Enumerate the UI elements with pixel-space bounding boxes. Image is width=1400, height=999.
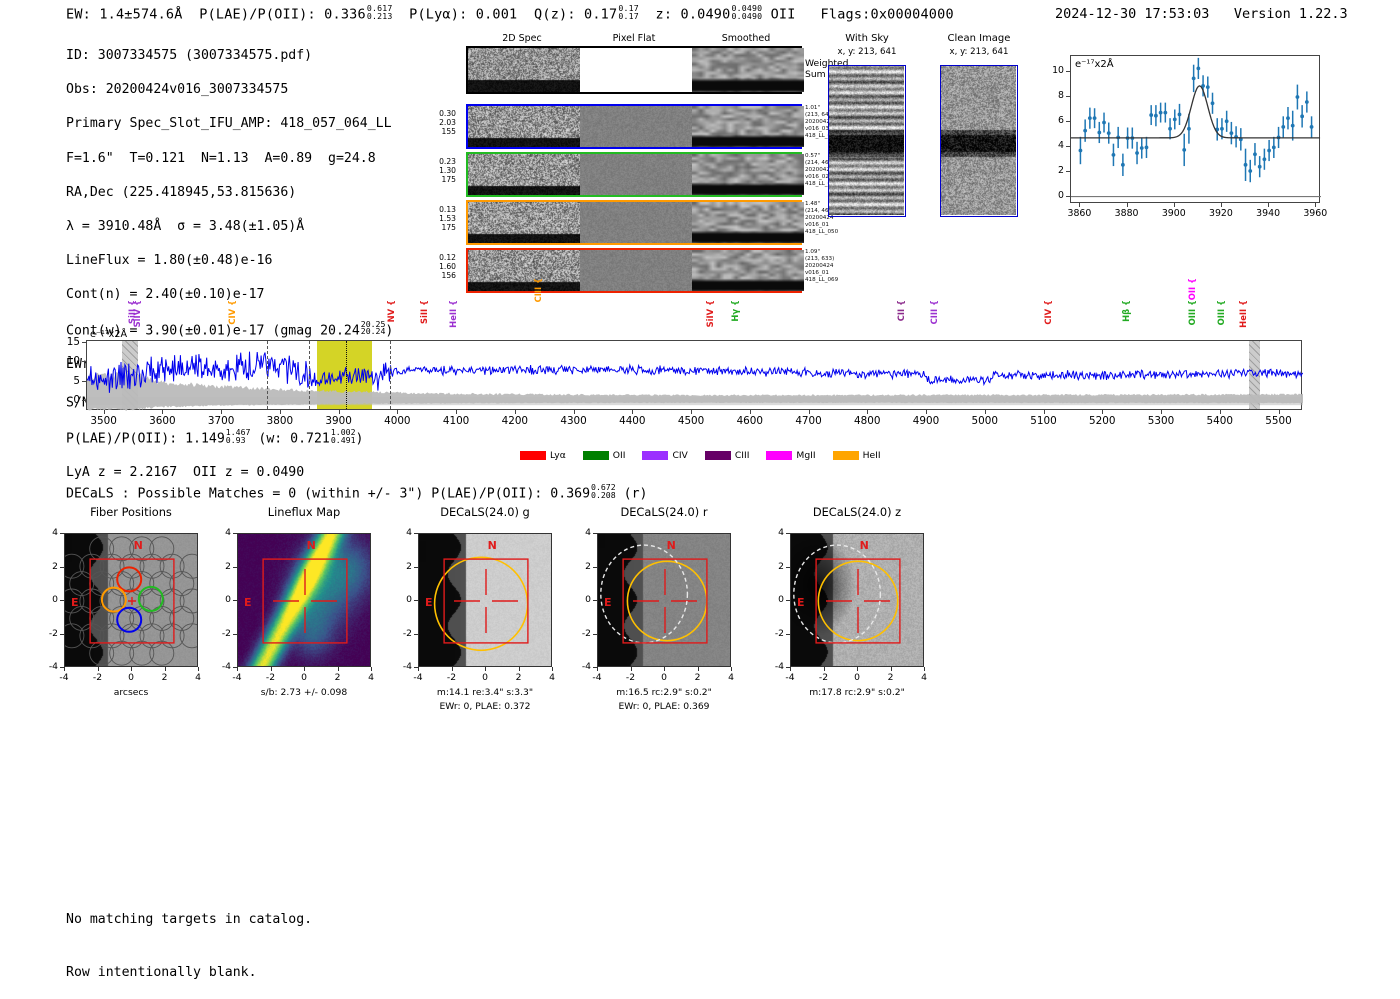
panel-ytick-label: -2 [211,628,231,639]
panel-ytick [593,634,597,635]
panel-xtick-label: 2 [877,672,905,683]
panel-image-1[interactable] [64,533,198,667]
emission-line-label: SiIV { [705,300,715,327]
panel-ytick-label: 4 [392,527,412,538]
panel-xtick-label: -4 [583,672,611,683]
cutout-coords-1: x, y: 213, 641 [810,47,924,57]
panel-ytick [60,600,64,601]
panel-xtick [64,667,65,671]
fiber-strip-3-sub-3 [692,202,804,243]
fiber-strip-3 [466,200,802,245]
panel-ytick [786,600,790,601]
panel-ytick [60,567,64,568]
legend-swatch [583,451,609,460]
panel-caption-2: s/b: 2.73 +/- 0.098 [203,687,405,698]
spectrum-xtick [809,410,810,414]
plae-value: 0.336 [324,6,366,22]
panel-image-2[interactable] [237,533,371,667]
fiber-strip-2 [466,152,802,197]
spectrum-xtick [926,410,927,414]
wavelength-marker-3 [390,341,391,409]
decals-plae-bounds: 0.6720.208 [591,484,616,500]
panel-ytick-label: 2 [38,561,58,572]
panel-xtick-label: -4 [223,672,251,683]
info-seeing: F=1.6" T=0.121 N=1.13 A=0.89 g=24.8 [66,150,393,167]
weighted-sum-sub-3 [692,48,804,92]
line-fit-ytick-label: 10 [1042,65,1064,76]
spectrum-xtick-label: 3800 [256,415,304,427]
emission-line-label: Hγ { [730,300,740,322]
line-fit-xtick [1079,203,1080,207]
compass-north-2: N [307,539,316,552]
emission-line-label: HeII { [1238,300,1248,328]
emission-line-label: SiIV { [132,300,142,327]
panel-ytick [786,533,790,534]
header-timestamp-version: 2024-12-30 17:53:03 Version 1.22.3 [1055,6,1348,22]
spectrum-xtick-label: 3700 [197,415,245,427]
panel-xtick [924,667,925,671]
plae-bounds: 0.6170.213 [367,5,393,21]
panel-caption2-3: EWr: 0, PLAE: 0.372 [384,701,586,712]
legend-label: CIII [735,450,750,461]
panel-xtick-label: -4 [50,672,78,683]
cutout-image-2 [940,65,1018,217]
wavelength-marker-1 [267,341,268,409]
fiber-strip-1-metrics: 0.302.03155 [420,109,456,136]
panel-xtick-label: 0 [471,672,499,683]
emission-line-label: CIII { [929,300,939,324]
full-spectrum-plot-area: e⁻¹⁷x2Å [86,340,1302,410]
legend-label: MgII [796,450,815,461]
panel-caption-1: arcsecs [30,687,232,698]
panel-ytick [60,634,64,635]
weighted-sum-sub-1 [468,48,580,92]
panel-overlay-1 [65,534,198,667]
legend-label: OII [613,450,626,461]
panel-overlay-2 [238,534,371,667]
panel-xtick [418,667,419,671]
panel-ytick-label: 2 [392,561,412,572]
panel-title-3: DECaLS(24.0) g [388,505,582,519]
fiber-strip-1-sub-2 [580,106,692,147]
line-fit-ytick [1066,71,1070,72]
panel-ytick-label: -2 [571,628,591,639]
footer-note: No matching targets in catalog. Row inte… [66,876,312,999]
panel-xtick-label: 0 [650,672,678,683]
z-label: z: [656,6,673,22]
spectrum-xtick-label: 4100 [432,415,480,427]
panel-ytick-label: 0 [764,594,784,605]
fiber-strip-2-metrics: 0.231.30175 [420,157,456,184]
plya-value: 0.001 [476,6,518,22]
compass-east-2: E [244,596,252,609]
fiber-strip-1 [466,104,802,149]
legend-swatch [642,451,668,460]
panel-xtick [452,667,453,671]
line-fit-xtick-label: 3940 [1248,208,1288,219]
plae-label: P(LAE)/P(OII): [199,6,316,22]
spectrum-xtick-label: 5000 [961,415,1009,427]
panel-xtick [338,667,339,671]
panel-ytick [414,567,418,568]
panel-xtick-label: -2 [257,672,285,683]
emission-line-label: Hβ { [1121,300,1131,322]
panel-ytick-label: -2 [392,628,412,639]
spectrum-xtick [985,410,986,414]
legend-item-civ: CIV [642,450,687,461]
panel-ytick-label: 4 [571,527,591,538]
panel-caption2-4: EWr: 0, PLAE: 0.369 [563,701,765,712]
spectrum-xtick-label: 5200 [1078,415,1126,427]
spectrum-xtick-label: 5300 [1137,415,1185,427]
legend-label: Lyα [550,450,566,461]
panel-ytick-label: 4 [211,527,231,538]
panel-xtick [552,667,553,671]
compass-north-1: N [134,539,143,552]
legend-swatch [520,451,546,460]
spectrum-xtick [750,410,751,414]
panel-ytick-label: -4 [571,661,591,672]
panel-ytick [60,667,64,668]
info-radec: RA,Dec (225.418945,53.815636) [66,184,393,201]
spectrum-xtick-label: 4500 [667,415,715,427]
fiber-metric: 0.12 [420,253,456,262]
spectrum-xtick [339,410,340,414]
panel-xtick-label: -2 [438,672,466,683]
panel-xtick [698,667,699,671]
panel-xtick-label: 2 [324,672,352,683]
fiber-metric: 2.03 [420,118,456,127]
spectrum-xtick [162,410,163,414]
panel-ytick-label: 0 [211,594,231,605]
spectrum-xtick-label: 4300 [550,415,598,427]
panel-ytick-label: 2 [211,561,231,572]
line-fit-xtick-label: 3920 [1201,208,1241,219]
fiber-cutout-images: With Skyx, y: 213, 641Clean Imagex, y: 2… [828,33,1018,253]
panel-xtick [237,667,238,671]
panel-ytick-label: 2 [571,561,591,572]
line-fit-xtick-label: 3880 [1107,208,1147,219]
panel-title-4: DECaLS(24.0) r [567,505,761,519]
panel-xtick-label: 2 [684,672,712,683]
spectrum-xtick [574,410,575,414]
line-fit-ytick-label: 4 [1042,140,1064,151]
footer-line-1: No matching targets in catalog. [66,911,312,929]
panel-xtick-label: 2 [505,672,533,683]
spectrum-xtick [1161,410,1162,414]
emission-line-label: CIV { [227,300,237,325]
panel-overlay-3 [419,534,552,667]
panel-title-1: Fiber Positions [34,505,228,519]
panel-ytick [414,667,418,668]
info-obs: Obs: 20200424v016_3007334575 [66,81,393,98]
legend-label: HeII [863,450,881,461]
fiber-strip-3-sub-1 [468,202,580,243]
panel-title-5: DECaLS(24.0) z [760,505,954,519]
line-fit-chart: e⁻¹⁷x2Å3860388039003920394039600246810 [1030,45,1320,240]
spectrum-xtick [1044,410,1045,414]
panel-ytick [593,567,597,568]
fiber-metric: 155 [420,127,456,136]
compass-north-5: N [860,539,869,552]
panel-xtick-label: 0 [117,672,145,683]
panel-xtick [519,667,520,671]
panel-caption-3: m:14.1 re:3.4" s:3.3" [384,687,586,698]
panel-ytick [233,667,237,668]
panel-ytick-label: -4 [211,661,231,672]
panel-ytick [233,634,237,635]
spectrum-ytick-label: 15 [56,336,80,348]
spectrum-xtick-label: 4000 [373,415,421,427]
legend-swatch [833,451,859,460]
spec2d-column-title-2: Pixel Flat [572,33,696,44]
legend-item-lyα: Lyα [520,450,566,461]
decals-band: (r) [624,486,648,501]
decals-match-text: DECaLS : Possible Matches = 0 (within +/… [66,486,590,501]
qz-value: 0.17 [584,6,617,22]
panel-image-5[interactable] [790,533,924,667]
z-value: 0.0490 [681,6,731,22]
fiber-metric: 175 [420,175,456,184]
panel-xtick-label: 4 [184,672,212,683]
line-fit-xtick [1174,203,1175,207]
panel-ytick [786,667,790,668]
weighted-sum-sub-2 [580,48,692,92]
line-fit-ytick-label: 8 [1042,90,1064,101]
fiber-metric: 1.53 [420,214,456,223]
emission-line-label: OIII { [1216,300,1226,325]
legend-item-oii: OII [583,450,626,461]
emission-line-label: HeII { [448,300,458,328]
panel-xtick [857,667,858,671]
panel-xtick-label: 0 [290,672,318,683]
spectrum-xtick [397,410,398,414]
legend-label: CIV [672,450,687,461]
fiber-strip-2-sub-1 [468,154,580,195]
panel-ytick [414,533,418,534]
panel-xtick-label: 4 [538,672,566,683]
panel-xtick-label: 0 [843,672,871,683]
panel-ytick [60,533,64,534]
legend-swatch [705,451,731,460]
compass-north-3: N [488,539,497,552]
panel-xtick-label: 4 [357,672,385,683]
line-fit-plot-area: e⁻¹⁷x2Å [1070,55,1320,203]
panel-ytick-label: 2 [764,561,784,572]
line-fit-ytick [1066,96,1070,97]
spectrum-xtick [515,410,516,414]
spectrum-xtick [867,410,868,414]
panel-xtick [304,667,305,671]
line-fit-xtick [1127,203,1128,207]
spectrum-xtick [691,410,692,414]
emission-line-label: CIV { [1043,300,1053,325]
line-fit-data-layer [1071,56,1321,204]
full-spectrum-chart: e⁻¹⁷x2Å350036003700380039004000410042004… [0,270,1400,450]
panel-ytick [593,533,597,534]
fiber-strip-3-sub-2 [580,202,692,243]
fiber-strip-2-sub-3 [692,154,804,195]
panel-image-4[interactable] [597,533,731,667]
panel-caption-4: m:16.5 rc:2.9" s:0.2" [563,687,765,698]
legend-item-mgii: MgII [766,450,815,461]
spectrum-ytick-label: 10 [56,355,80,367]
emission-line-label: CII { [896,300,906,321]
panel-xtick [165,667,166,671]
z-bounds: 0.04900.0490 [731,5,762,21]
panel-xtick-label: -2 [84,672,112,683]
spectrum-xtick [1279,410,1280,414]
panel-xtick-label: 2 [151,672,179,683]
fiber-metric: 175 [420,223,456,232]
line-fit-ytick [1066,121,1070,122]
fiber-metric: 0.23 [420,157,456,166]
panel-ytick-label: -2 [38,628,58,639]
full-spectrum-flux-units: e⁻¹⁷x2Å [90,329,127,340]
panel-ytick [593,600,597,601]
panel-overlay-5 [791,534,924,667]
line-fit-ytick-label: 6 [1042,115,1064,126]
fiber-strip-3-metrics: 0.131.53175 [420,205,456,232]
panel-ytick [786,634,790,635]
legend-item-ciii: CIII [705,450,750,461]
spectrum-xtick-label: 4400 [608,415,656,427]
spectrum-ytick [82,400,86,401]
cutout-title-1: With Sky [810,33,924,44]
fiber-identifier: (213, 633) [805,256,865,263]
line-fit-xtick [1221,203,1222,207]
line-fit-ytick [1066,171,1070,172]
panel-ytick-label: 4 [38,527,58,538]
spectrum-ytick [82,342,86,343]
panel-xtick-label: 4 [910,672,938,683]
panel-xtick [271,667,272,671]
panel-title-2: Lineflux Map [207,505,401,519]
fiber-strip-2-sub-2 [580,154,692,195]
spectrum-xtick [280,410,281,414]
ew-label: EW: [66,6,91,22]
panel-ytick-label: -2 [764,628,784,639]
emission-line-label: OIII { [1187,300,1197,325]
fiber-identifier: 20200424 [805,263,865,270]
panel-ytick-label: 0 [392,594,412,605]
compass-east-3: E [425,596,433,609]
panel-ytick [786,567,790,568]
spectrum-xtick-label: 5500 [1255,415,1303,427]
panel-ytick [233,533,237,534]
spectrum-xtick [1220,410,1221,414]
emission-line-label: SiII { [419,300,429,324]
spectrum-xtick-label: 4700 [785,415,833,427]
line-fit-ytick-label: 2 [1042,165,1064,176]
info-id: ID: 3007334575 (3007334575.pdf) [66,47,393,64]
panel-xtick-label: -2 [810,672,838,683]
spectrum-xtick-label: 5100 [1020,415,1068,427]
spec2d-column-title-3: Smoothed [684,33,808,44]
panel-xtick [597,667,598,671]
panel-ytick [414,634,418,635]
panel-ytick-label: -4 [392,661,412,672]
cutout-image-1 [828,65,906,217]
panel-xtick [485,667,486,671]
info-primary-spec: Primary Spec_Slot_IFU_AMP: 418_057_064_L… [66,115,393,132]
panel-ytick-label: 4 [764,527,784,538]
line-fit-ytick [1066,196,1070,197]
panel-xtick [631,667,632,671]
panel-xtick [790,667,791,671]
panel-caption-5: m:17.8 rc:2.9" s:0.2" [756,687,958,698]
fiber-metric: 1.30 [420,166,456,175]
spectrum-xtick-label: 4200 [491,415,539,427]
panel-ytick [233,567,237,568]
line-fit-xtick [1315,203,1316,207]
compass-east-5: E [797,596,805,609]
spectrum-xtick-label: 3500 [80,415,128,427]
compass-north-4: N [667,539,676,552]
fiber-strip-1-sub-1 [468,106,580,147]
panel-ytick [233,600,237,601]
panel-xtick [198,667,199,671]
two-d-spectra-panel: 2D SpecPixel FlatSmoothedWeightedSum0.30… [420,33,820,248]
panel-xtick-label: 4 [717,672,745,683]
spectrum-xtick-label: 4900 [902,415,950,427]
spectrum-xtick-label: 4600 [726,415,774,427]
line-fit-xtick-label: 3860 [1059,208,1099,219]
spectrum-xtick [632,410,633,414]
spectrum-ytick-label: 0 [56,394,80,406]
flags-value: Flags:0x00004000 [821,6,954,22]
footer-line-2: Row intentionally blank. [66,964,312,982]
spectrum-xtick-label: 5400 [1196,415,1244,427]
full-spectrum-data-layer [87,341,1303,411]
panel-xtick-label: -4 [776,672,804,683]
compass-east-1: E [71,596,79,609]
panel-ytick [414,600,418,601]
info-lineflux: LineFlux = 1.80(±0.48)e-16 [66,252,393,269]
spectrum-xtick [221,410,222,414]
panel-ytick-label: -4 [764,661,784,672]
detected-line-marker [346,341,347,409]
line-fit-ytick [1066,146,1070,147]
panel-xtick [891,667,892,671]
wavelength-marker-2 [309,341,310,409]
spectrum-ytick [82,381,86,382]
panel-overlay-4 [598,534,731,667]
panel-xtick [731,667,732,671]
panel-image-3[interactable] [418,533,552,667]
spectrum-xtick-label: 4800 [843,415,891,427]
imaging-panel-row: Fiber PositionsNE-4-2024420-2-4arcsecsLi… [0,505,1400,725]
panel-xtick-label: -2 [617,672,645,683]
version: Version 1.22.3 [1234,6,1348,22]
line-fit-xtick-label: 3900 [1154,208,1194,219]
spectrum-xtick [104,410,105,414]
qz-label: Q(z): [534,6,576,22]
qz-bounds: 0.170.17 [618,5,639,21]
compass-east-4: E [604,596,612,609]
cutout-coords-2: x, y: 213, 641 [922,47,1036,57]
fiber-strip-1-sub-3 [692,106,804,147]
spec2d-column-title-1: 2D Spec [460,33,584,44]
panel-xtick-label: -4 [404,672,432,683]
panel-xtick [371,667,372,671]
cutout-title-2: Clean Image [922,33,1036,44]
emission-line-label: NV { [386,300,396,322]
panel-ytick-label: 0 [38,594,58,605]
line-fit-xtick [1268,203,1269,207]
info-lambda: λ = 3910.48Å σ = 3.48(±1.05)Å [66,218,393,235]
line-fit-xtick-label: 3960 [1295,208,1335,219]
